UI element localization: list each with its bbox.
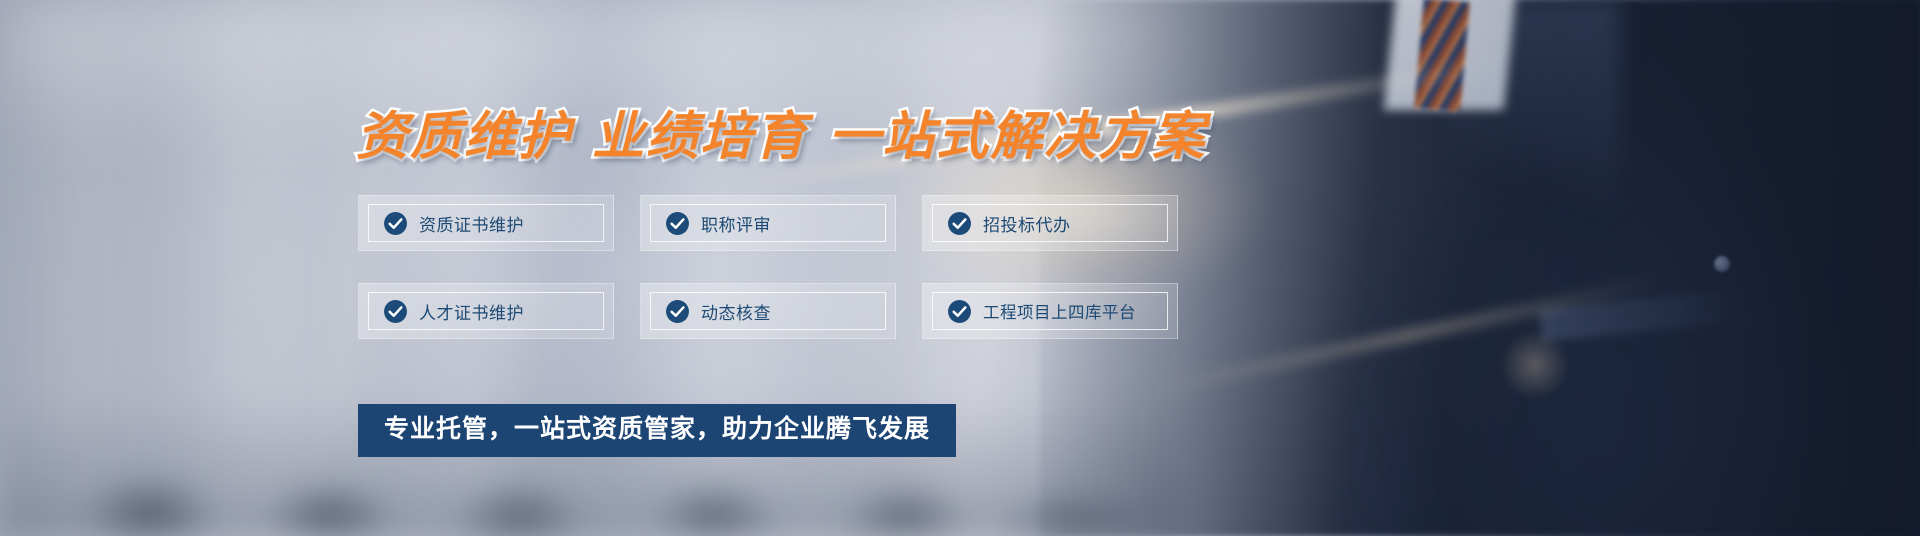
feature-item-dynamic-inspection[interactable]: 动态核查 bbox=[640, 283, 896, 339]
feature-item-title-evaluation[interactable]: 职称评审 bbox=[640, 195, 896, 251]
check-circle-icon bbox=[665, 299, 690, 324]
feature-label: 资质证书维护 bbox=[419, 211, 524, 236]
promo-banner: 资质维护 业绩培育 一站式解决方案 资质证书维护 bbox=[0, 0, 1920, 536]
banner-headline: 资质维护 业绩培育 一站式解决方案 bbox=[356, 94, 1206, 169]
feature-item-four-library-platform[interactable]: 工程项目上四库平台 bbox=[922, 283, 1178, 339]
feature-grid: 资质证书维护 职称评审 bbox=[358, 195, 1178, 339]
slogan-bar: 专业托管，一站式资质管家，助力企业腾飞发展 bbox=[358, 404, 956, 457]
feature-item-qualification-certificate-maintenance[interactable]: 资质证书维护 bbox=[358, 195, 614, 251]
slogan-text: 专业托管，一站式资质管家，助力企业腾飞发展 bbox=[384, 414, 930, 443]
feature-label: 人才证书维护 bbox=[419, 299, 524, 324]
check-circle-icon bbox=[665, 211, 690, 236]
feature-item-bidding-agency[interactable]: 招投标代办 bbox=[922, 195, 1178, 251]
check-circle-icon bbox=[947, 299, 972, 324]
feature-label: 职称评审 bbox=[701, 211, 771, 236]
check-circle-icon bbox=[383, 299, 408, 324]
feature-label: 工程项目上四库平台 bbox=[983, 299, 1136, 323]
check-circle-icon bbox=[947, 211, 972, 236]
check-circle-icon bbox=[383, 211, 408, 236]
feature-label: 动态核查 bbox=[701, 299, 771, 324]
feature-label: 招投标代办 bbox=[983, 211, 1071, 236]
feature-item-talent-certificate-maintenance[interactable]: 人才证书维护 bbox=[358, 283, 614, 339]
